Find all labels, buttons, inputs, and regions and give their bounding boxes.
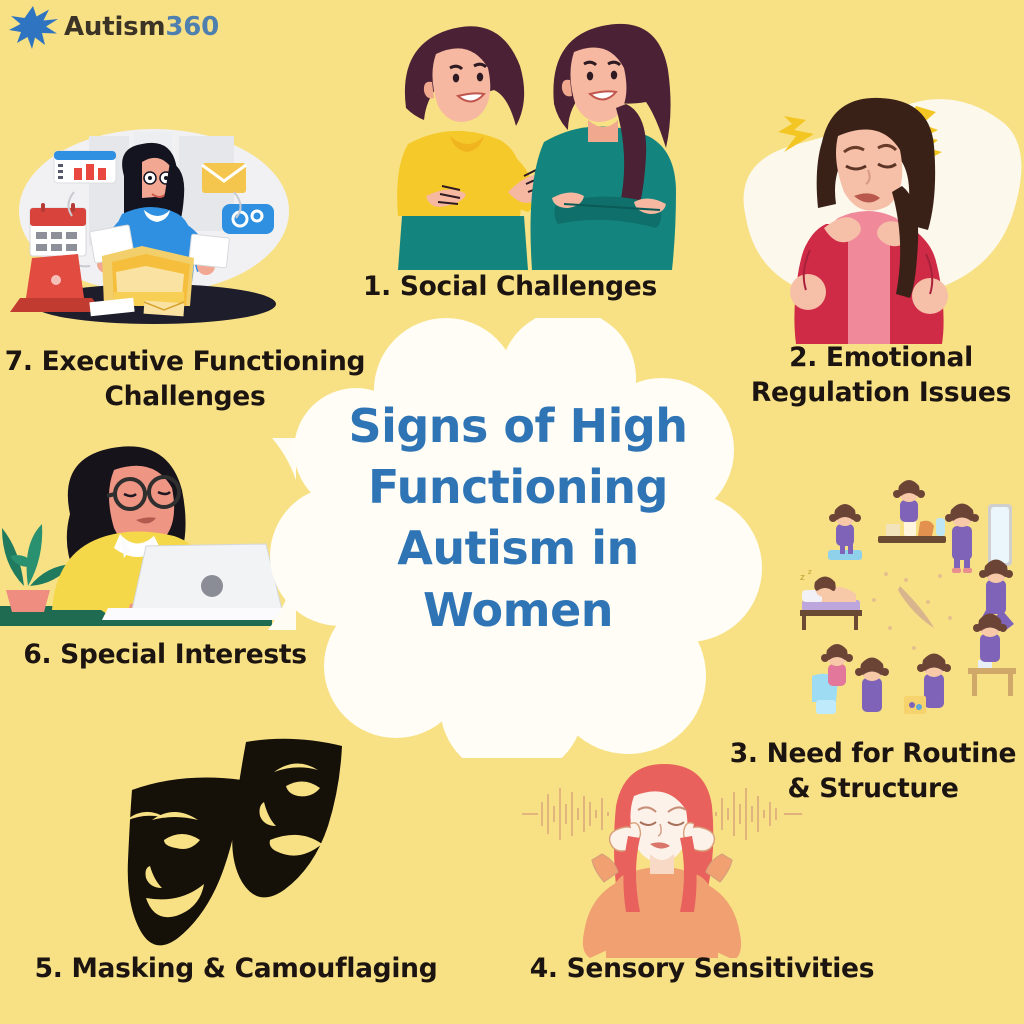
item-label-need-for-routine-line2: & Structure <box>722 772 1024 807</box>
brand-logo[interactable]: Autism360 <box>8 4 219 50</box>
page-title: Signs of High Functioning Autism in Wome… <box>320 396 716 641</box>
svg-text:z: z <box>808 568 812 576</box>
item-label-emotional-regulation-line1: 2. Emotional <box>738 341 1024 376</box>
svg-text:z: z <box>800 573 805 583</box>
daily-routine-clock-illustration: z z <box>800 478 1024 718</box>
item-label-social-challenges: 1. Social Challenges <box>330 270 690 305</box>
item-label-executive-functioning-line1: 7. Executive Functioning <box>0 345 370 380</box>
theater-masks-illustration <box>98 728 398 960</box>
woman-with-laptop-illustration <box>0 428 296 640</box>
two-women-talking-illustration <box>378 8 684 270</box>
woman-multitasking-desk-illustration <box>0 106 304 328</box>
brand-name-primary: Autism <box>64 12 165 42</box>
brand-name-secondary: 360 <box>165 12 219 42</box>
star-splash-icon <box>8 4 60 50</box>
title-line-3: Autism in <box>320 518 716 579</box>
item-label-need-for-routine: 3. Need for Routine & Structure <box>722 737 1024 807</box>
stressed-woman-holding-head-illustration <box>726 78 1024 344</box>
item-label-masking-camouflaging: 5. Masking & Camouflaging <box>6 952 466 987</box>
title-line-2: Functioning <box>320 457 716 518</box>
infographic-canvas: Autism360 <box>0 0 1024 1024</box>
brand-wordmark: Autism360 <box>64 12 219 42</box>
item-label-emotional-regulation: 2. Emotional Regulation Issues <box>738 341 1024 411</box>
item-label-special-interests: 6. Special Interests <box>0 638 330 673</box>
item-label-executive-functioning: 7. Executive Functioning Challenges <box>0 345 370 415</box>
item-label-need-for-routine-line1: 3. Need for Routine <box>722 737 1024 772</box>
title-line-1: Signs of High <box>320 396 716 457</box>
title-line-4: Women <box>320 580 716 641</box>
item-label-emotional-regulation-line2: Regulation Issues <box>738 376 1024 411</box>
item-label-sensory-sensitivities: 4. Sensory Sensitivities <box>492 952 912 987</box>
item-label-executive-functioning-line2: Challenges <box>0 380 370 415</box>
